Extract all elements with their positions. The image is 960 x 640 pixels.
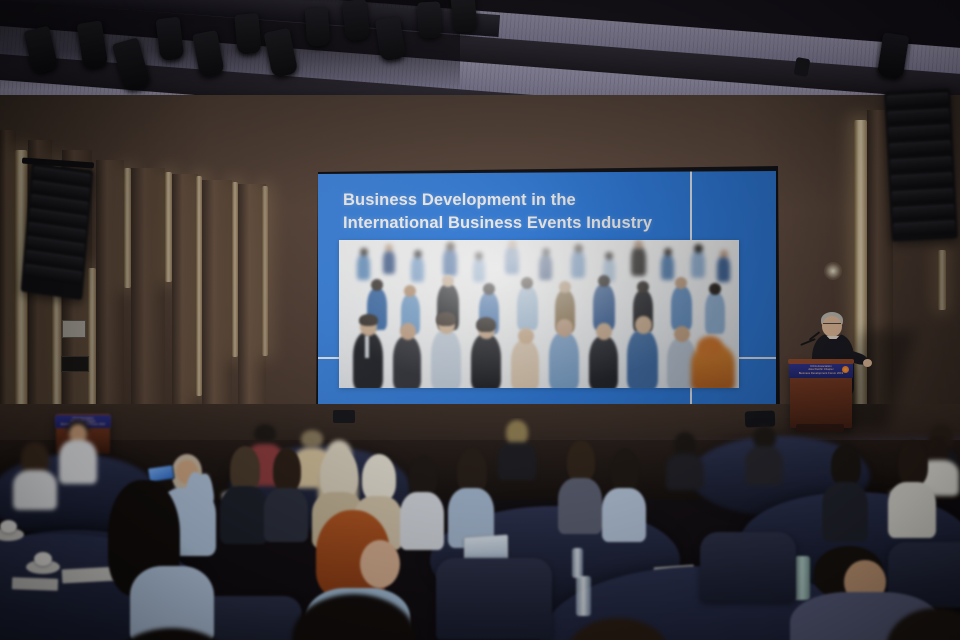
- attendee: [96, 480, 216, 640]
- stage-light-fixture: [234, 13, 261, 55]
- stage-light-fixture: [450, 0, 477, 33]
- attendee: [108, 628, 238, 640]
- notepad: [12, 577, 58, 591]
- chair: [436, 558, 552, 640]
- water-bottle: [576, 576, 591, 616]
- screen-glare: [318, 171, 776, 419]
- audience-area: [0, 418, 960, 640]
- audience-near-row: [0, 418, 960, 640]
- podium-right-banner: ICCA Association Asia Pacific Chapter Bu…: [789, 363, 853, 378]
- attendee: [880, 608, 960, 640]
- stage-light-fixture: [305, 7, 331, 47]
- stage-light-fixture: [156, 17, 185, 62]
- line-array-speaker-left: [21, 162, 94, 300]
- chair: [700, 532, 796, 602]
- led-screen[interactable]: Business Development in the Internationa…: [318, 171, 776, 419]
- stage-light-fixture: [417, 1, 442, 38]
- attendee: [560, 618, 680, 640]
- podium-right-top-surface: [788, 359, 854, 364]
- conference-hall-scene: Business Development in the Internationa…: [0, 0, 960, 640]
- coffee-cup: [34, 552, 52, 566]
- stage-light-fixture: [342, 0, 370, 41]
- presenter-glasses: [823, 323, 841, 328]
- podium-logo-icon: [842, 366, 849, 373]
- line-array-speaker-right: [884, 88, 958, 241]
- coffee-cup: [0, 520, 17, 533]
- presenter-hand: [863, 359, 872, 367]
- attendee: [282, 594, 432, 640]
